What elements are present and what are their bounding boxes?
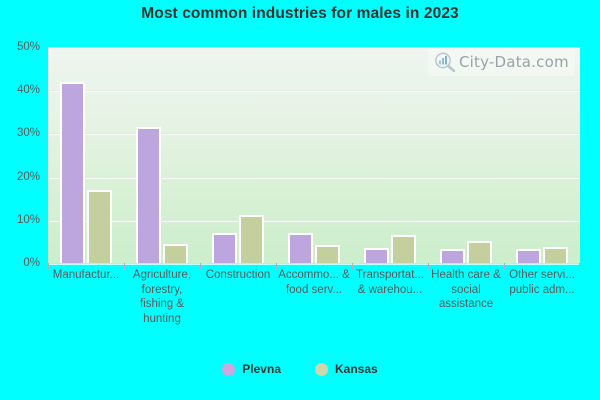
- legend-swatch-icon: [222, 363, 235, 376]
- legend-item[interactable]: Plevna: [222, 362, 281, 376]
- bar-kansas[interactable]: [163, 244, 188, 263]
- y-axis-tick-label: 20%: [17, 171, 40, 183]
- legend-item[interactable]: Kansas: [315, 362, 378, 376]
- legend-label: Plevna: [242, 362, 281, 376]
- chart-title: Most common industries for males in 2023: [0, 5, 600, 23]
- bar-plevna[interactable]: [288, 233, 313, 263]
- bar-group: [48, 47, 124, 263]
- y-axis-tick-label: 10%: [17, 214, 40, 226]
- bar-plevna[interactable]: [60, 82, 85, 263]
- bar-group: [276, 47, 352, 263]
- y-axis-tick-label: 30%: [17, 127, 40, 139]
- bar-plevna[interactable]: [364, 248, 389, 263]
- bar-group: [428, 47, 504, 263]
- x-axis-category-label: Accommo... & food serv...: [276, 268, 352, 297]
- watermark: City-Data.com: [428, 48, 575, 76]
- chart-legend: PlevnaKansas: [0, 362, 600, 376]
- bar-plevna[interactable]: [136, 127, 161, 263]
- bar-chart: Most common industries for males in 2023…: [0, 0, 600, 400]
- bar-group: [124, 47, 200, 263]
- magnifier-bar-chart-icon: [434, 52, 456, 72]
- bar-kansas[interactable]: [87, 190, 112, 263]
- x-axis-category-label: Transportat... & warehou...: [352, 268, 428, 297]
- bar-kansas[interactable]: [391, 235, 416, 264]
- legend-label: Kansas: [335, 362, 378, 376]
- y-axis-tick-label: 0%: [23, 257, 40, 269]
- x-axis-category-label: Agriculture, forestry, fishing & hunting: [124, 268, 200, 326]
- x-axis-category-label: Manufactur...: [48, 268, 124, 283]
- x-axis-category-label: Other servi... public adm...: [504, 268, 580, 297]
- bar-group: [200, 47, 276, 263]
- bar-plevna[interactable]: [516, 249, 541, 263]
- bar-kansas[interactable]: [467, 241, 492, 263]
- watermark-text: City-Data.com: [459, 53, 569, 71]
- bar-group: [504, 47, 580, 263]
- x-axis-labels: Manufactur...Agriculture, forestry, fish…: [48, 268, 580, 348]
- y-axis: 0%10%20%30%40%50%: [0, 47, 44, 263]
- x-axis-category-label: Health care & social assistance: [428, 268, 504, 312]
- bar-plevna[interactable]: [440, 249, 465, 263]
- bar-plevna[interactable]: [212, 233, 237, 263]
- legend-swatch-icon: [315, 363, 328, 376]
- bar-kansas[interactable]: [543, 247, 568, 263]
- bar-kansas[interactable]: [315, 245, 340, 263]
- x-axis-category-label: Construction: [200, 268, 276, 283]
- bars-layer: [48, 47, 580, 263]
- bar-kansas[interactable]: [239, 215, 264, 263]
- y-axis-tick-label: 40%: [17, 84, 40, 96]
- bar-group: [352, 47, 428, 263]
- y-axis-tick-label: 50%: [17, 41, 40, 53]
